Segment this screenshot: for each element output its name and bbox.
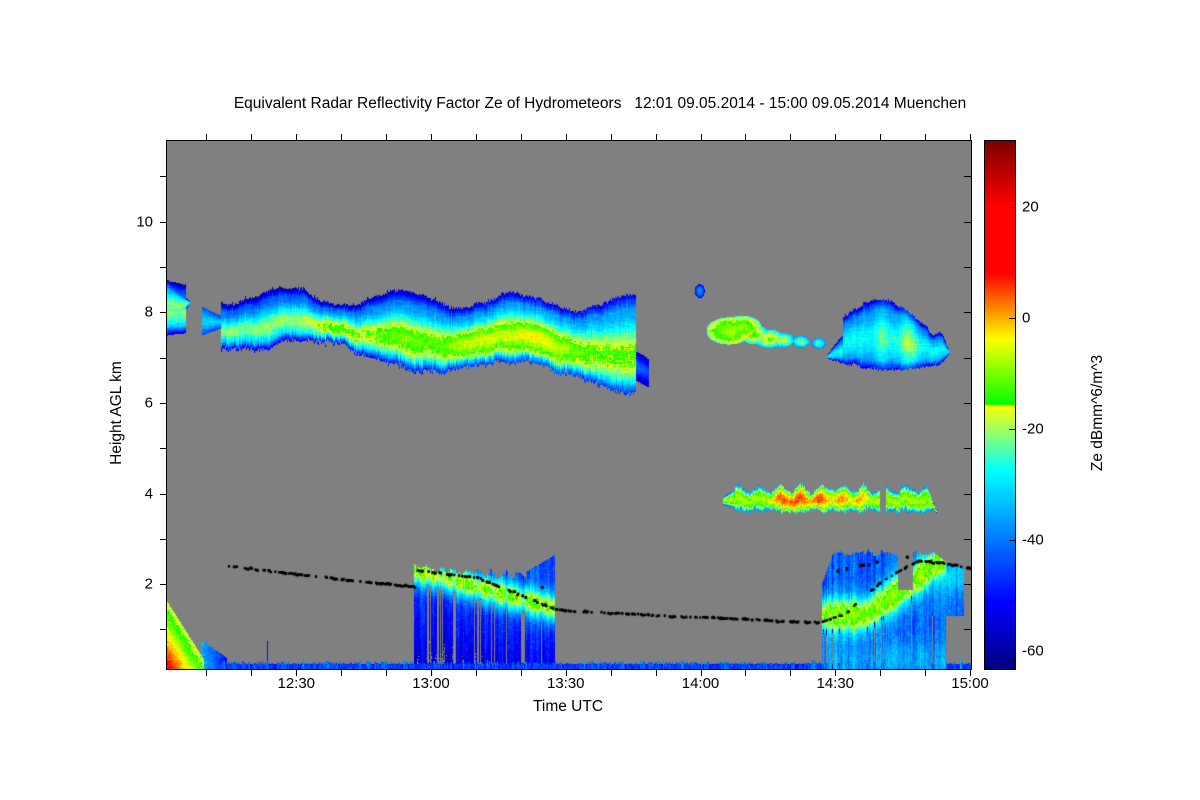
x-tick-minor xyxy=(341,669,342,676)
x-tick-minor-inner xyxy=(970,134,971,141)
x-tick-minor xyxy=(925,669,926,676)
x-tick-minor xyxy=(745,669,746,676)
x-tick-label: 15:00 xyxy=(951,675,989,692)
y-tick-minor-inner xyxy=(964,584,971,585)
y-tick-minor xyxy=(160,494,167,495)
y-tick-minor xyxy=(160,222,167,223)
x-tick-minor-inner xyxy=(296,134,297,141)
y-tick-minor-inner xyxy=(964,267,971,268)
x-tick-minor xyxy=(656,669,657,676)
colorbar-tick xyxy=(1009,540,1015,541)
y-tick-label: 6 xyxy=(145,394,153,411)
x-tick-label: 13:30 xyxy=(547,675,585,692)
x-tick-minor xyxy=(476,669,477,676)
colorbar-tick xyxy=(1009,429,1015,430)
y-tick-minor xyxy=(160,403,167,404)
radar-reflectivity-figure: Equivalent Radar Reflectivity Factor Ze … xyxy=(0,0,1200,800)
x-tick-minor-inner xyxy=(566,134,567,141)
x-tick-minor xyxy=(790,669,791,676)
x-tick-minor-inner xyxy=(880,134,881,141)
y-tick-minor xyxy=(160,312,167,313)
colorbar-tick xyxy=(1009,207,1015,208)
x-tick-minor xyxy=(880,669,881,676)
x-tick-minor-inner xyxy=(341,134,342,141)
y-tick-minor xyxy=(160,584,167,585)
y-tick-minor-inner xyxy=(964,629,971,630)
x-tick-minor-inner xyxy=(835,134,836,141)
colorbar-gradient xyxy=(985,141,1015,669)
y-tick-label: 8 xyxy=(145,304,153,321)
colorbar-tick-label: 20 xyxy=(1022,198,1039,215)
plot-area xyxy=(166,140,972,670)
x-tick-minor-inner xyxy=(701,134,702,141)
y-tick-minor-inner xyxy=(964,222,971,223)
x-tick-minor xyxy=(251,669,252,676)
y-tick-label: 10 xyxy=(136,213,153,230)
x-tick-label: 13:00 xyxy=(412,675,450,692)
x-axis-label: Time UTC xyxy=(166,698,970,716)
y-tick-minor-inner xyxy=(964,176,971,177)
x-tick-minor-inner xyxy=(431,134,432,141)
y-tick-label: 4 xyxy=(145,485,153,502)
x-tick-label: 14:00 xyxy=(682,675,720,692)
chart-title: Equivalent Radar Reflectivity Factor Ze … xyxy=(0,95,1200,113)
x-tick-label: 12:30 xyxy=(277,675,315,692)
y-tick-minor-inner xyxy=(964,403,971,404)
colorbar-label: Ze dBmm^6/m^3 xyxy=(1089,293,1107,533)
x-tick-minor-inner xyxy=(745,134,746,141)
x-tick-minor-inner xyxy=(790,134,791,141)
y-axis-label: Height AGL km xyxy=(108,293,126,533)
x-tick-minor-inner xyxy=(521,134,522,141)
y-tick-minor xyxy=(160,539,167,540)
y-tick-minor-inner xyxy=(964,448,971,449)
x-tick-minor-inner xyxy=(251,134,252,141)
y-tick-minor xyxy=(160,267,167,268)
y-tick-minor xyxy=(160,176,167,177)
y-tick-label: 2 xyxy=(145,576,153,593)
x-tick-minor xyxy=(386,669,387,676)
x-tick-minor xyxy=(521,669,522,676)
x-tick-minor xyxy=(611,669,612,676)
y-tick-minor-inner xyxy=(964,494,971,495)
colorbar-tick-label: -60 xyxy=(1022,643,1044,660)
x-tick-minor-inner xyxy=(611,134,612,141)
x-tick-minor-inner xyxy=(656,134,657,141)
colorbar-tick xyxy=(1009,318,1015,319)
colorbar-tick-label: -40 xyxy=(1022,532,1044,549)
x-tick-minor-inner xyxy=(386,134,387,141)
x-tick-minor-inner xyxy=(206,134,207,141)
y-tick-minor-inner xyxy=(964,312,971,313)
x-tick-minor-inner xyxy=(476,134,477,141)
colorbar-tick-label: 0 xyxy=(1022,309,1030,326)
y-tick-minor xyxy=(160,358,167,359)
colorbar xyxy=(984,140,1016,670)
colorbar-tick-label: -20 xyxy=(1022,421,1044,438)
reflectivity-heatmap xyxy=(167,141,971,669)
colorbar-tick xyxy=(1009,651,1015,652)
x-tick-label: 14:30 xyxy=(816,675,854,692)
x-tick-minor-inner xyxy=(925,134,926,141)
y-tick-minor xyxy=(160,448,167,449)
y-tick-minor-inner xyxy=(964,539,971,540)
x-tick-minor xyxy=(206,669,207,676)
y-tick-minor xyxy=(160,629,167,630)
y-tick-minor-inner xyxy=(964,358,971,359)
